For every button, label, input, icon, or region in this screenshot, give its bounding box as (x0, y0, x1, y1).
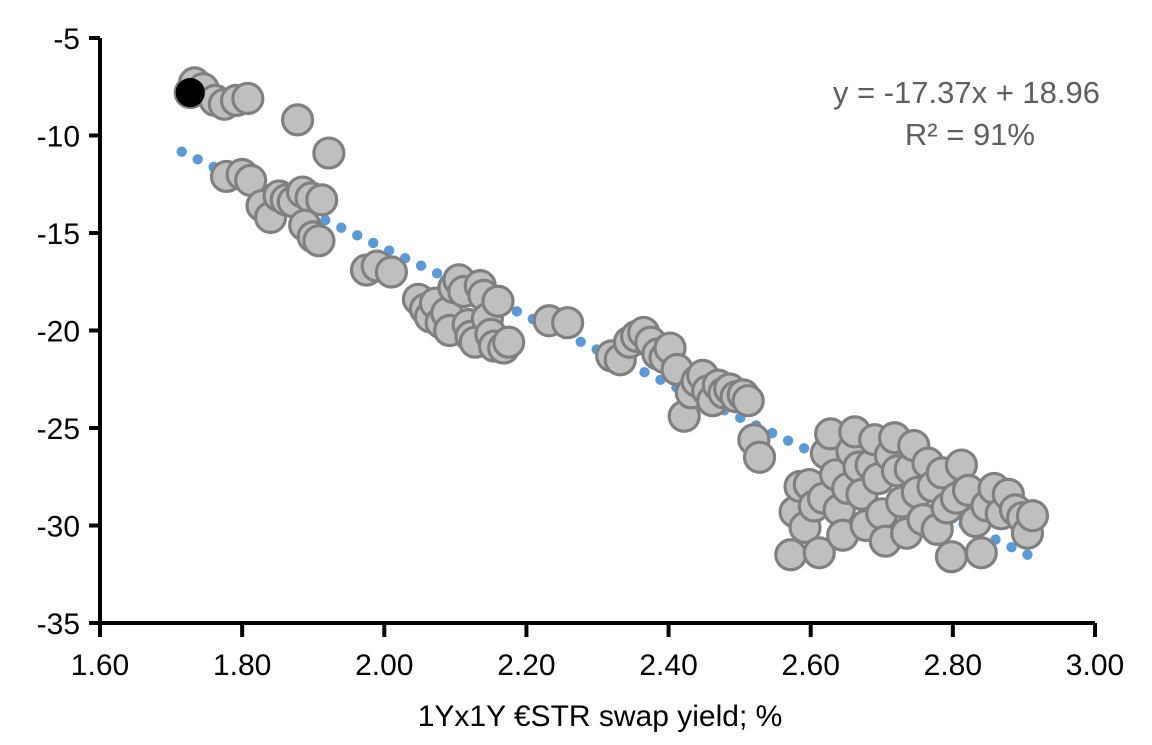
trendline-dot (432, 268, 442, 278)
trendline-dot (639, 367, 649, 377)
trendline-dot (416, 261, 426, 271)
x-axis-tick-label: 2.40 (639, 649, 697, 682)
data-point-marker (936, 542, 966, 572)
x-axis-tick-label: 3.00 (1066, 649, 1124, 682)
r-squared-label: R² = 91% (905, 117, 1035, 152)
data-point-marker (283, 105, 313, 135)
data-point-marker (1017, 501, 1047, 531)
trendline-dot (177, 146, 187, 156)
x-axis-tick-label: 2.80 (924, 649, 982, 682)
x-axis: 1.601.802.002.202.402.602.803.00 (71, 623, 1124, 682)
highlighted-data-point (177, 80, 203, 106)
trendline-dot (192, 154, 202, 164)
x-axis-title: 1Yx1Y €STR swap yield; % (418, 700, 783, 733)
trendline-dot (368, 238, 378, 248)
trendline-dot (336, 223, 346, 233)
y-axis-tick-label: -25 (37, 413, 80, 446)
data-point-marker (494, 327, 524, 357)
y-axis: -5-10-15-20-25-30-35 (37, 23, 100, 641)
data-point-marker (483, 286, 513, 316)
trendline-dot (575, 337, 585, 347)
trendline-dot (799, 443, 809, 453)
y-axis-tick-label: -30 (37, 511, 80, 544)
scatter-chart: -5-10-15-20-25-30-35 1.601.802.002.202.4… (0, 0, 1152, 745)
y-axis-tick-label: -35 (37, 608, 80, 641)
data-point-marker (304, 226, 334, 256)
trendline-dot (1022, 550, 1032, 560)
data-point-marker (966, 538, 996, 568)
data-point-marker (233, 83, 263, 113)
trendline-dot (783, 435, 793, 445)
y-axis-tick-label: -15 (37, 218, 80, 251)
data-point-marker (776, 540, 806, 570)
x-axis-tick-label: 2.60 (782, 649, 840, 682)
data-point-marker (376, 257, 406, 287)
data-point-marker (314, 138, 344, 168)
x-axis-tick-label: 1.80 (213, 649, 271, 682)
y-axis-tick-label: -20 (37, 316, 80, 349)
y-axis-tick-label: -10 (37, 121, 80, 154)
data-point-marker (745, 442, 775, 472)
y-axis-tick-label: -5 (53, 23, 80, 56)
plot-area: -5-10-15-20-25-30-35 1.601.802.002.202.4… (0, 0, 1152, 745)
data-point-marker (553, 308, 583, 338)
regression-equation-label: y = -17.37x + 18.96 (833, 75, 1100, 110)
trendline-dot (352, 230, 362, 240)
data-point-marker (733, 386, 763, 416)
highlighted-marker (177, 80, 203, 106)
x-axis-tick-label: 2.20 (497, 649, 555, 682)
x-axis-tick-label: 2.00 (355, 649, 413, 682)
x-axis-tick-label: 1.60 (71, 649, 129, 682)
